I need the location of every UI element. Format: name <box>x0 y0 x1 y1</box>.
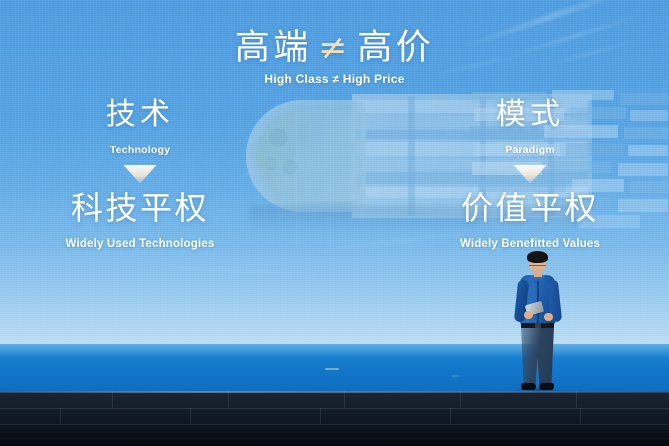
step-seam <box>576 391 577 408</box>
down-arrow-icon <box>513 165 547 184</box>
column-head-cn: 技术 <box>10 100 270 130</box>
speaker-shoe <box>539 383 554 390</box>
floor-marker <box>452 375 459 377</box>
column-big-cn: 科技平权 <box>10 192 270 224</box>
slide-headline: 高端≠高价 <box>0 31 669 66</box>
step-seam <box>190 408 191 424</box>
step-edge <box>0 408 669 409</box>
step-seam <box>320 408 321 424</box>
down-arrow-icon <box>123 165 157 184</box>
slide-headline-subtitle: High Class ≠ High Price <box>0 73 669 85</box>
led-screen: 高端≠高价 High Class ≠ High Price 技术 Technol… <box>0 0 669 344</box>
column-paradigm: 模式 Paradigm 价值平权 Widely Benefitted Value… <box>400 100 660 250</box>
headline-left-cn: 高端 <box>235 28 312 68</box>
column-big-cn: 价值平权 <box>400 192 660 224</box>
step-seam <box>460 391 461 408</box>
speaker-hair <box>527 251 548 263</box>
speaker-belt-buckle <box>535 323 541 328</box>
stage-floor-gloss <box>0 344 669 358</box>
speaker-jeans <box>521 327 554 385</box>
column-foot-en: Widely Benefitted Values <box>400 239 660 251</box>
step-seam <box>60 408 61 424</box>
speaker-shoe <box>521 383 536 390</box>
speaker-hand <box>544 313 553 321</box>
column-head-en: Paradigm <box>400 145 660 156</box>
step-front-highlight <box>0 391 669 393</box>
step-seam <box>112 391 113 408</box>
not-equal-symbol: ≠ <box>312 28 357 68</box>
step-seam <box>228 391 229 408</box>
slide-typography: 高端≠高价 High Class ≠ High Price 技术 Technol… <box>0 0 669 344</box>
speaker-hand <box>524 311 533 319</box>
step-seam <box>580 408 581 424</box>
floor-marker <box>325 368 339 370</box>
speaker-person <box>506 253 568 391</box>
column-head-en: Technology <box>10 145 270 156</box>
stage-steps <box>0 391 669 446</box>
step-seam <box>344 391 345 408</box>
column-head-cn: 模式 <box>400 100 660 130</box>
step-edge <box>0 424 669 425</box>
headline-right-cn: 高价 <box>357 28 434 68</box>
step-seam <box>450 408 451 424</box>
column-foot-en: Widely Used Technologies <box>10 239 270 251</box>
stage-scene: 高端≠高价 High Class ≠ High Price 技术 Technol… <box>0 0 669 446</box>
column-technology: 技术 Technology 科技平权 Widely Used Technolog… <box>10 100 270 250</box>
step-edge <box>0 438 669 439</box>
